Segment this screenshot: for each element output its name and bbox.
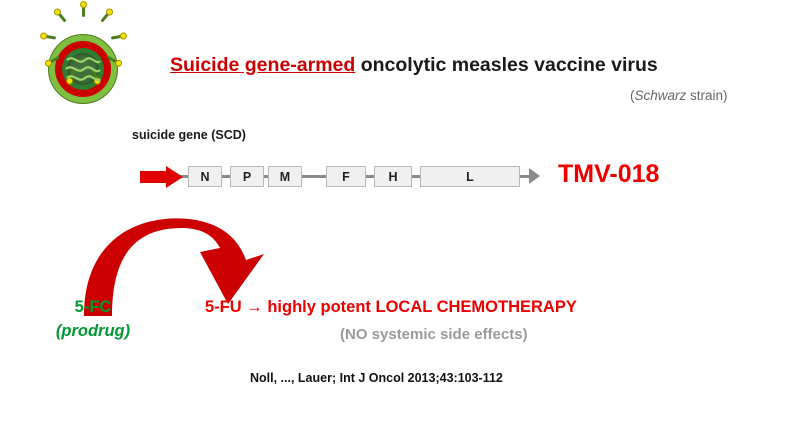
prodrug-label-line1: 5-FC bbox=[28, 296, 158, 320]
page-title-highlight: Suicide gene-armed bbox=[170, 54, 355, 76]
strain-suffix: strain) bbox=[686, 88, 727, 103]
strain-name: Schwarz bbox=[635, 88, 687, 103]
slide-canvas: Suicide gene-armed oncolytic measles vac… bbox=[0, 0, 800, 436]
gene-box-M: M bbox=[268, 166, 302, 187]
prodrug-label-line2: (prodrug) bbox=[28, 320, 158, 344]
page-title: Suicide gene-armed oncolytic measles vac… bbox=[170, 54, 658, 77]
gene-box-F: F bbox=[326, 166, 366, 187]
page-title-rest: oncolytic measles vaccine virus bbox=[355, 54, 657, 76]
virus-spike-icon bbox=[111, 35, 122, 40]
strain-note: (Schwarz strain) bbox=[630, 88, 728, 103]
product-name: TMV-018 bbox=[558, 160, 659, 189]
virus-spike-icon bbox=[82, 6, 85, 17]
side-effects-note: (NO systemic side effects) bbox=[340, 326, 528, 343]
gene-box-N: N bbox=[188, 166, 222, 187]
virus-rna-icon bbox=[64, 52, 102, 86]
gene-box-L: L bbox=[420, 166, 520, 187]
suicide-gene-insertion-arrow-icon bbox=[140, 166, 184, 188]
citation-text: Noll, ..., Lauer; Int J Oncol 2013;43:10… bbox=[250, 371, 503, 385]
gene-box-H: H bbox=[374, 166, 412, 187]
suicide-gene-label: suicide gene (SCD) bbox=[132, 128, 246, 142]
virus-spike-icon bbox=[57, 12, 66, 22]
virus-particle-icon bbox=[36, 22, 130, 116]
virus-spike-icon bbox=[100, 12, 109, 22]
genome-diagram: N P M F H L bbox=[140, 160, 540, 194]
gene-box-P: P bbox=[230, 166, 264, 187]
prodrug-label: 5-FC (prodrug) bbox=[28, 296, 158, 344]
virus-spike-icon bbox=[45, 35, 56, 40]
genome-arrowhead-icon bbox=[529, 168, 540, 184]
active-drug-label: 5-FU → highly potent LOCAL CHEMOTHERAPY bbox=[205, 298, 577, 317]
